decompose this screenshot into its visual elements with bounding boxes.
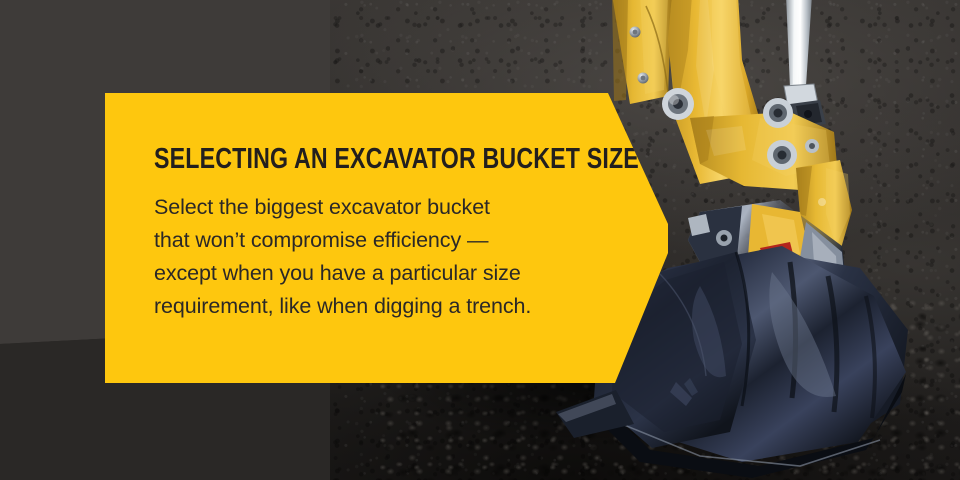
body-line: except when you have a particular size	[154, 257, 624, 290]
pivot-pin	[662, 88, 694, 120]
pivot-pin	[767, 140, 797, 170]
callout-card: Selecting an Excavator Bucket Size Selec…	[105, 93, 670, 383]
boom-plate	[612, 0, 672, 104]
callout-body-text: Select the biggest excavator bucket that…	[154, 174, 624, 323]
hero-banner: Selecting an Excavator Bucket Size Selec…	[0, 0, 960, 480]
body-line: requirement, like when digging a trench.	[154, 290, 624, 323]
body-line: that won’t compromise efficiency —	[154, 224, 624, 257]
body-line: Select the biggest excavator bucket	[154, 191, 624, 224]
callout-card-content: Selecting an Excavator Bucket Size Selec…	[154, 93, 624, 323]
page-title: Selecting an Excavator Bucket Size	[154, 93, 530, 174]
pivot-pin	[763, 98, 793, 128]
bolt-head	[805, 139, 819, 153]
